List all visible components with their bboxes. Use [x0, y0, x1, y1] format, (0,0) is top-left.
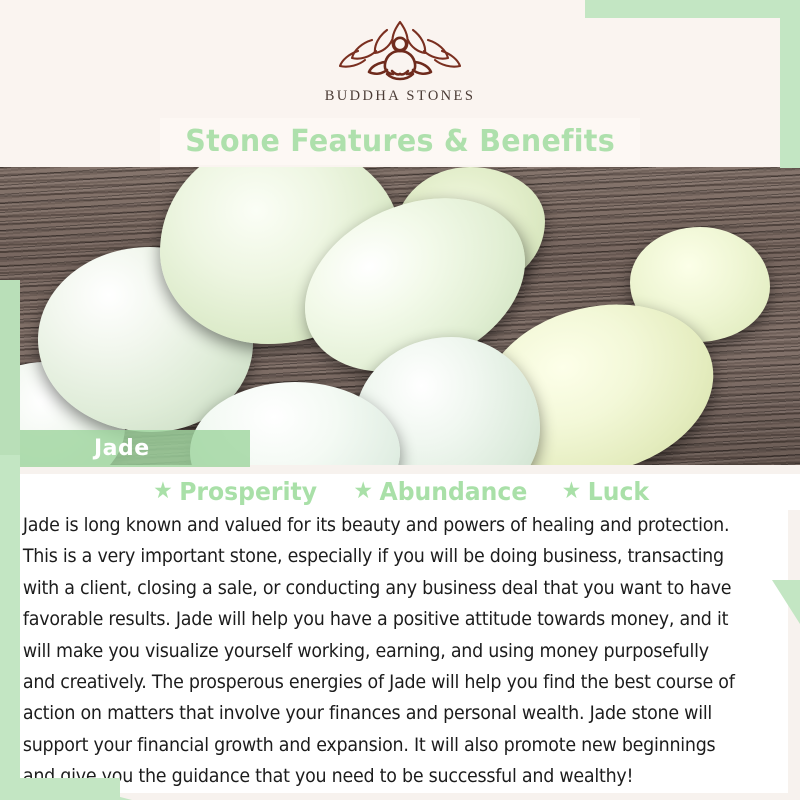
- decorative-green-bar-left-upper: [0, 280, 20, 460]
- stone-photo: [0, 167, 800, 465]
- star-icon: ★: [562, 480, 581, 503]
- stone-name-band: Jade: [20, 430, 250, 467]
- lotus-meditation-icon: [325, 16, 475, 84]
- benefit-item-luck: ★ Luck: [562, 477, 649, 506]
- decorative-green-bar-top-right: [585, 0, 800, 18]
- benefit-item-prosperity: ★ Prosperity: [153, 477, 317, 506]
- star-icon: ★: [153, 480, 172, 503]
- description-text: Jade is long known and valued for its be…: [20, 510, 753, 793]
- brand-name: BUDDHA STONES: [325, 88, 476, 105]
- benefits-row: ★ Prosperity ★ Abundance ★ Luck: [0, 474, 800, 510]
- benefit-label: Prosperity: [179, 477, 317, 506]
- benefit-label: Luck: [588, 477, 649, 506]
- decorative-green-bar-right: [780, 0, 800, 168]
- description-panel: Jade is long known and valued for its be…: [20, 508, 788, 793]
- brand-logo: BUDDHA STONES: [0, 16, 800, 105]
- benefit-item-abundance: ★ Abundance: [354, 477, 528, 506]
- benefit-label: Abundance: [380, 477, 528, 506]
- star-icon: ★: [354, 480, 373, 503]
- stone-benefits-poster: BUDDHA STONES Stone Features & Benefits …: [0, 0, 800, 800]
- stone-name-label: Jade: [20, 436, 150, 461]
- title-band: Stone Features & Benefits: [160, 118, 640, 165]
- page-title: Stone Features & Benefits: [185, 124, 615, 159]
- decorative-green-bar-left: [0, 455, 20, 800]
